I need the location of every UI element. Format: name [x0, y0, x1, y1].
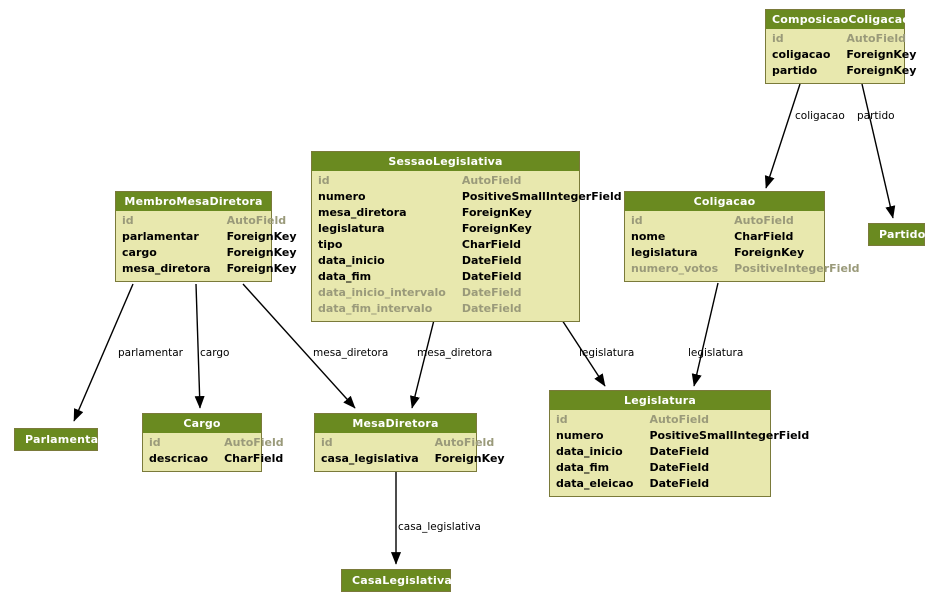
- field-name: mesa_diretora: [318, 205, 462, 221]
- entity-field-list: idAutoFieldnumeroPositiveSmallIntegerFie…: [550, 410, 770, 496]
- field-row: numeroPositiveSmallIntegerField: [556, 428, 764, 444]
- field-type: DateField: [462, 301, 522, 317]
- entity-composicao_coligacao[interactable]: ComposicaoColigacaoidAutoFieldcoligacaoF…: [765, 9, 905, 84]
- field-type: PositiveSmallIntegerField: [649, 428, 809, 444]
- field-type: DateField: [649, 444, 709, 460]
- field-type: ForeignKey: [462, 221, 532, 237]
- edge-label-e-parlamentar: parlamentar: [118, 347, 183, 359]
- entity-title: Partido: [869, 224, 924, 245]
- edge-label-e-partido: partido: [857, 110, 895, 122]
- entity-coligacao[interactable]: ColigacaoidAutoFieldnomeCharFieldlegisla…: [624, 191, 825, 282]
- field-type: ForeignKey: [227, 245, 297, 261]
- field-name: coligacao: [772, 47, 846, 63]
- field-name: legislatura: [631, 245, 734, 261]
- field-type: ForeignKey: [227, 261, 297, 277]
- field-type: PositiveSmallIntegerField: [462, 189, 622, 205]
- field-row: cargoForeignKey: [122, 245, 265, 261]
- field-row: idAutoField: [122, 213, 265, 229]
- field-row: data_eleicaoDateField: [556, 476, 764, 492]
- er-diagram-canvas: ComposicaoColigacaoidAutoFieldcoligacaoF…: [0, 0, 940, 611]
- entity-casa_legislativa[interactable]: CasaLegislativa: [341, 569, 451, 592]
- entity-title: MesaDiretora: [315, 414, 476, 433]
- edge-label-e-mesa-from-membro: mesa_diretora: [313, 347, 388, 359]
- field-type: DateField: [649, 460, 709, 476]
- edge-e-mesa-from-sessao: [412, 320, 434, 408]
- edge-e-coligacao: [766, 84, 800, 188]
- edge-e-partido: [862, 84, 893, 218]
- field-row: idAutoField: [318, 173, 573, 189]
- entity-title: CasaLegislativa: [342, 570, 450, 591]
- field-row: legislaturaForeignKey: [318, 221, 573, 237]
- entity-title: SessaoLegislativa: [312, 152, 579, 171]
- edge-label-e-mesa-from-sessao: mesa_diretora: [417, 347, 492, 359]
- entity-field-list: idAutoFieldcoligacaoForeignKeypartidoFor…: [766, 29, 904, 83]
- field-row: tipoCharField: [318, 237, 573, 253]
- field-name: parlamentar: [122, 229, 227, 245]
- field-row: descricaoCharField: [149, 451, 255, 467]
- edge-label-e-coligacao: coligacao: [795, 110, 845, 122]
- field-name: data_inicio_intervalo: [318, 285, 462, 301]
- field-type: DateField: [462, 269, 522, 285]
- field-row: legislaturaForeignKey: [631, 245, 818, 261]
- entity-mesa_diretora[interactable]: MesaDiretoraidAutoFieldcasa_legislativaF…: [314, 413, 477, 472]
- entity-field-list: idAutoFieldnomeCharFieldlegislaturaForei…: [625, 211, 824, 281]
- field-name: data_inicio: [556, 444, 649, 460]
- field-name: partido: [772, 63, 846, 79]
- field-name: id: [556, 412, 649, 428]
- field-type: AutoField: [462, 173, 522, 189]
- entity-title: Parlamentar: [15, 429, 97, 450]
- entity-cargo[interactable]: CargoidAutoFielddescricaoCharField: [142, 413, 262, 472]
- field-row: idAutoField: [556, 412, 764, 428]
- edge-e-cargo: [196, 284, 200, 408]
- entity-legislatura[interactable]: LegislaturaidAutoFieldnumeroPositiveSmal…: [549, 390, 771, 497]
- field-row: idAutoField: [772, 31, 898, 47]
- field-type: ForeignKey: [462, 205, 532, 221]
- field-name: data_fim: [318, 269, 462, 285]
- field-name: mesa_diretora: [122, 261, 227, 277]
- field-row: mesa_diretoraForeignKey: [318, 205, 573, 221]
- field-name: id: [631, 213, 734, 229]
- field-row: mesa_diretoraForeignKey: [122, 261, 265, 277]
- field-name: id: [122, 213, 227, 229]
- field-row: idAutoField: [149, 435, 255, 451]
- edge-label-e-legislatura-from-sessao: legislatura: [579, 347, 634, 359]
- field-row: nomeCharField: [631, 229, 818, 245]
- entity-parlamentar[interactable]: Parlamentar: [14, 428, 98, 451]
- field-type: ForeignKey: [846, 63, 916, 79]
- field-name: numero: [318, 189, 462, 205]
- entity-title: Legislatura: [550, 391, 770, 410]
- field-name: id: [321, 435, 435, 451]
- field-type: PositiveIntegerField: [734, 261, 859, 277]
- entity-partido[interactable]: Partido: [868, 223, 925, 246]
- field-type: ForeignKey: [227, 229, 297, 245]
- field-type: ForeignKey: [846, 47, 916, 63]
- field-type: DateField: [649, 476, 709, 492]
- field-type: ForeignKey: [435, 451, 505, 467]
- entity-title: MembroMesaDiretora: [116, 192, 271, 211]
- field-row: partidoForeignKey: [772, 63, 898, 79]
- field-row: numero_votosPositiveIntegerField: [631, 261, 818, 277]
- edge-label-e-casa-legislativa: casa_legislativa: [398, 521, 481, 533]
- field-type: AutoField: [227, 213, 287, 229]
- field-name: numero_votos: [631, 261, 734, 277]
- edge-label-e-legislatura-from-coligacao: legislatura: [688, 347, 743, 359]
- entity-field-list: idAutoFielddescricaoCharField: [143, 433, 261, 471]
- edge-e-legislatura-from-coligacao: [694, 283, 718, 386]
- field-type: AutoField: [846, 31, 906, 47]
- field-name: tipo: [318, 237, 462, 253]
- field-row: data_fimDateField: [556, 460, 764, 476]
- field-name: cargo: [122, 245, 227, 261]
- field-name: data_inicio: [318, 253, 462, 269]
- field-row: data_fim_intervaloDateField: [318, 301, 573, 317]
- field-row: data_inicio_intervaloDateField: [318, 285, 573, 301]
- field-type: AutoField: [734, 213, 794, 229]
- field-type: AutoField: [224, 435, 284, 451]
- field-row: idAutoField: [631, 213, 818, 229]
- field-type: DateField: [462, 285, 522, 301]
- field-type: AutoField: [649, 412, 709, 428]
- field-row: parlamentarForeignKey: [122, 229, 265, 245]
- field-name: casa_legislativa: [321, 451, 435, 467]
- field-name: numero: [556, 428, 649, 444]
- field-type: CharField: [224, 451, 283, 467]
- field-name: data_fim_intervalo: [318, 301, 462, 317]
- entity-field-list: idAutoFieldcasa_legislativaForeignKey: [315, 433, 476, 471]
- field-name: descricao: [149, 451, 224, 467]
- field-type: ForeignKey: [734, 245, 804, 261]
- field-name: data_fim: [556, 460, 649, 476]
- field-type: DateField: [462, 253, 522, 269]
- entity-title: Coligacao: [625, 192, 824, 211]
- field-name: id: [772, 31, 846, 47]
- field-row: coligacaoForeignKey: [772, 47, 898, 63]
- entity-field-list: idAutoFieldparlamentarForeignKeycargoFor…: [116, 211, 271, 281]
- field-type: CharField: [462, 237, 521, 253]
- entity-field-list: idAutoFieldnumeroPositiveSmallIntegerFie…: [312, 171, 579, 321]
- field-row: data_fimDateField: [318, 269, 573, 285]
- entity-membro_mesa_diretora[interactable]: MembroMesaDiretoraidAutoFieldparlamentar…: [115, 191, 272, 282]
- field-name: legislatura: [318, 221, 462, 237]
- edge-label-e-cargo: cargo: [200, 347, 229, 359]
- field-row: casa_legislativaForeignKey: [321, 451, 470, 467]
- field-type: CharField: [734, 229, 793, 245]
- field-row: data_inicioDateField: [318, 253, 573, 269]
- field-name: id: [149, 435, 224, 451]
- field-row: numeroPositiveSmallIntegerField: [318, 189, 573, 205]
- entity-sessao_legislativa[interactable]: SessaoLegislativaidAutoFieldnumeroPositi…: [311, 151, 580, 322]
- entity-title: Cargo: [143, 414, 261, 433]
- field-name: data_eleicao: [556, 476, 649, 492]
- field-row: data_inicioDateField: [556, 444, 764, 460]
- entity-title: ComposicaoColigacao: [766, 10, 904, 29]
- field-name: id: [318, 173, 462, 189]
- field-type: AutoField: [435, 435, 495, 451]
- field-row: idAutoField: [321, 435, 470, 451]
- field-name: nome: [631, 229, 734, 245]
